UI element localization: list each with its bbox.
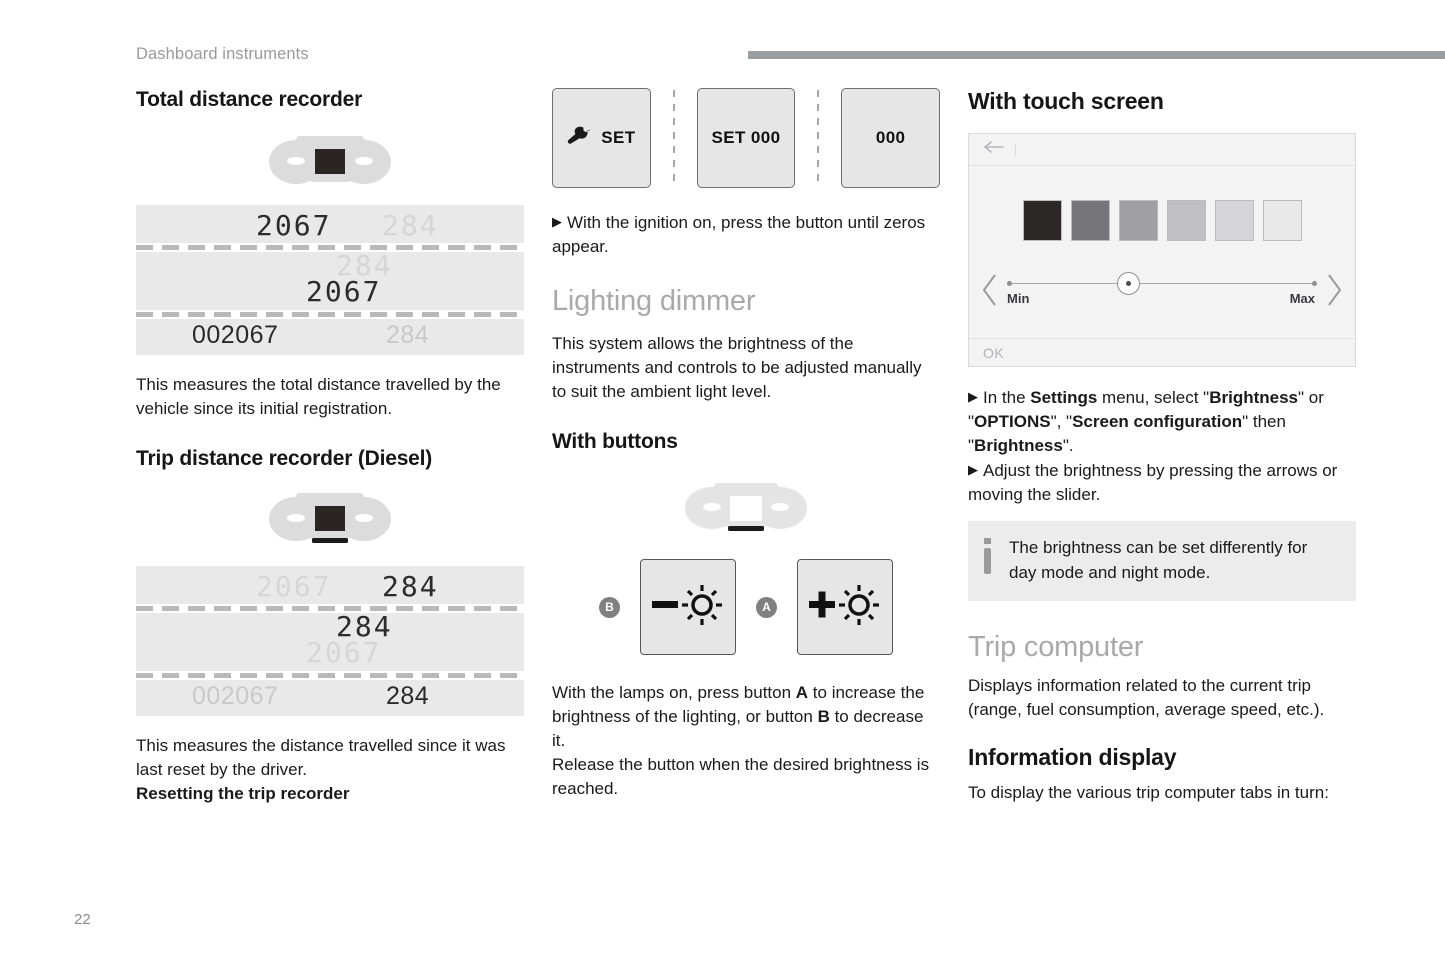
slider-track [1009,283,1315,284]
with-buttons-paragraph-2: Release the button when the desired brig… [552,753,940,801]
ignition-instruction: ▶With the ignition on, press the button … [552,210,940,259]
set-button-figure: SET SET 000 000 [552,88,940,188]
brightness-decrease-button[interactable] [640,559,736,655]
ignition-instruction-text: With the ignition on, press the button u… [552,213,925,256]
instrument-cluster-icon [268,489,392,556]
row2-secondary: 2067 [306,636,381,669]
brightness-swatch-5[interactable] [1215,200,1254,241]
display-row-2: 284 2067 [136,613,524,671]
p1-bold-b: B [818,707,830,726]
total-distance-figure [136,130,524,195]
slider-min-label: Min [1007,291,1029,306]
trip-computer-body: Displays information related to the curr… [968,674,1356,722]
000-label: 000 [876,128,906,148]
instrument-cluster-icon [268,130,392,195]
brightness-swatch-4[interactable] [1167,200,1206,241]
trip-computer-title: Trip computer [968,631,1356,664]
with-buttons-paragraph-1: With the lamps on, press button A to inc… [552,681,940,753]
row3-primary: 284 [386,682,429,711]
trip-distance-body: This measures the distance travelled sin… [136,734,524,806]
s1-part2: menu, select " [1097,388,1209,407]
chevron-left-icon[interactable] [977,273,1003,307]
touch-screen-step-1: ▶In the Settings menu, select "Brightnes… [968,385,1356,458]
trip-distance-figure [136,489,524,556]
s1-bold-settings: Settings [1030,388,1097,407]
trip-body-line2: last reset by the driver. [136,760,307,779]
touch-screen-topbar [969,134,1355,166]
with-buttons-title: With buttons [552,430,940,454]
page-number: 22 [74,911,91,928]
set-box-000: 000 [841,88,940,188]
ok-button[interactable]: OK [983,345,1004,361]
set-000-label: SET 000 [712,128,781,148]
s1-bold-options: OPTIONS [974,412,1051,431]
p1-part1: With the lamps on, press button [552,683,796,702]
information-display-body: To display the various trip computer tab… [968,781,1356,805]
brightness-swatches [969,200,1355,241]
display-row-2: 284 2067 [136,252,524,310]
display-row-1: 2067 284 [136,205,524,243]
trip-distance-display: 2067 284 284 2067 002067 284 [136,566,524,716]
s1-part1: In the [983,388,1030,407]
button-b-tag: B [599,597,620,618]
s1-part4: ", " [1051,412,1073,431]
button-a-tag: A [756,597,777,618]
plus-brightness-icon [807,581,883,634]
lighting-dimmer-title: Lighting dimmer [552,285,940,318]
s1-part6: ". [1063,436,1074,455]
trip-distance-title: Trip distance recorder (Diesel) [136,447,524,471]
display-separator [136,310,524,319]
brightness-swatch-6[interactable] [1263,200,1302,241]
wrench-icon [567,126,593,151]
arrow-bullet-icon: ▶ [552,210,562,234]
row1-secondary: 284 [382,209,439,242]
display-separator [136,604,524,613]
row2-primary: 2067 [306,275,381,308]
resetting-trip-recorder-title: Resetting the trip recorder [136,784,350,803]
row1-primary: 2067 [256,209,331,242]
row3-secondary: 284 [386,321,429,350]
total-distance-title: Total distance recorder [136,88,524,112]
display-row-3: 002067 284 [136,680,524,716]
s2-text: Adjust the brightness by pressing the ar… [968,461,1337,504]
display-separator [136,671,524,680]
total-distance-body: This measures the total distance travell… [136,373,524,421]
with-touch-screen-title: With touch screen [968,88,1356,115]
brightness-swatch-3[interactable] [1119,200,1158,241]
slider-min-dot [1007,281,1012,286]
lighting-dimmer-body: This system allows the brightness of the… [552,332,940,404]
info-note: The brightness can be set differently fo… [968,521,1356,601]
s1-bold-brightness-2: Brightness [974,436,1063,455]
info-note-text: The brightness can be set differently fo… [1009,535,1338,585]
brightness-increase-button[interactable] [797,559,893,655]
header-rule [748,51,1445,59]
information-display-title: Information display [968,744,1356,771]
left-column: Total distance recorder 2067 284 284 206… [136,88,524,806]
total-distance-display: 2067 284 284 2067 002067 284 [136,205,524,355]
right-column: With touch screen [968,88,1356,805]
display-row-1: 2067 284 [136,566,524,604]
row1-primary: 284 [382,570,439,603]
slider-max-dot [1312,281,1317,286]
with-buttons-figure [552,480,940,541]
s1-bold-screen-config: Screen configuration [1072,412,1242,431]
running-head: Dashboard instruments [136,45,309,64]
back-arrow-icon[interactable] [983,140,1005,159]
set-box-set000: SET 000 [697,88,796,188]
trip-body-line1: This measures the distance travelled sin… [136,736,505,755]
touch-screen-step-2: ▶Adjust the brightness by pressing the a… [968,458,1356,507]
s1-bold-brightness: Brightness [1209,388,1298,407]
display-row-3: 002067 284 [136,319,524,355]
row1-secondary: 2067 [256,570,331,603]
slider-knob[interactable] [1117,272,1140,295]
row3-secondary: 002067 [192,682,278,711]
brightness-swatch-1[interactable] [1023,200,1062,241]
info-icon [982,535,993,581]
row3-primary: 002067 [192,321,278,350]
divider [817,90,819,186]
brightness-slider-row: Min Max [969,269,1355,311]
divider [673,90,675,186]
topbar-divider [1015,143,1016,156]
middle-column: SET SET 000 000 ▶With the ignition on, p… [552,88,940,801]
slider-max-label: Max [1290,291,1315,306]
minus-brightness-icon [650,581,726,634]
display-separator [136,243,524,252]
brightness-swatch-2[interactable] [1071,200,1110,241]
arrow-bullet-icon: ▶ [968,385,978,409]
set-box-wrench: SET [552,88,651,188]
p1-bold-a: A [796,683,808,702]
dimmer-buttons-figure: B A [552,559,940,655]
touch-screen-bottombar: OK [969,338,1355,366]
chevron-right-icon[interactable] [1321,273,1347,307]
instrument-cluster-icon [684,480,808,541]
arrow-bullet-icon: ▶ [968,458,978,482]
touch-screen-mock: Min Max OK [968,133,1356,367]
brightness-slider[interactable]: Min Max [1003,269,1321,311]
set-label: SET [601,128,635,148]
